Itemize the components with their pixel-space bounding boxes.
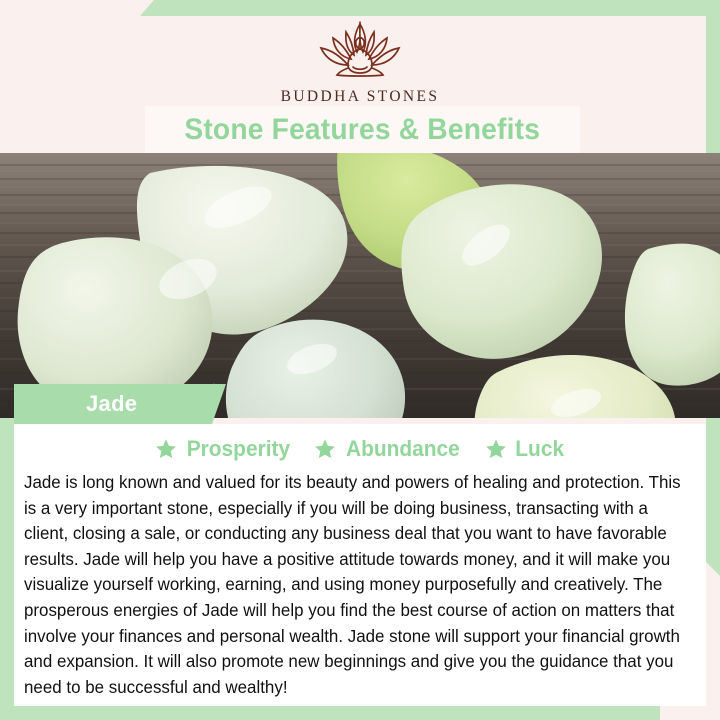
stone-name-banner: Jade	[14, 384, 226, 424]
stone-photo-image	[0, 153, 720, 418]
brand-name: BUDDHA STONES	[281, 88, 440, 106]
keyword-label: Prosperity	[186, 436, 289, 462]
brand-logo: BUDDHA STONES	[0, 18, 720, 106]
decorative-green-bar-top	[140, 0, 720, 16]
lotus-meditation-icon	[301, 18, 419, 84]
section-title-banner: Stone Features & Benefits	[145, 106, 580, 153]
keyword-item-abundance: Abundance	[314, 436, 463, 462]
star-icon	[314, 438, 336, 460]
decorative-green-bar-right-lower	[706, 396, 720, 576]
keyword-item-luck: Luck	[485, 436, 565, 462]
keyword-label: Luck	[515, 436, 564, 462]
stone-description: Jade is long known and valued for its be…	[24, 470, 686, 700]
keyword-label: Abundance	[346, 436, 460, 462]
star-icon	[485, 438, 507, 460]
star-icon	[155, 438, 177, 460]
keyword-item-prosperity: Prosperity	[155, 436, 293, 462]
description-panel: Prosperity Abundance Luck Jade is long k…	[14, 424, 706, 706]
page-title: Stone Features & Benefits	[185, 113, 541, 147]
decorative-green-bar-left	[0, 396, 14, 720]
decorative-green-bar-bottom	[0, 706, 660, 720]
product-info-card: BUDDHA STONES Stone Features & Benefits	[0, 0, 720, 720]
stone-name: Jade	[86, 391, 137, 417]
stone-photo	[0, 153, 720, 418]
keyword-list: Prosperity Abundance Luck	[18, 432, 702, 466]
